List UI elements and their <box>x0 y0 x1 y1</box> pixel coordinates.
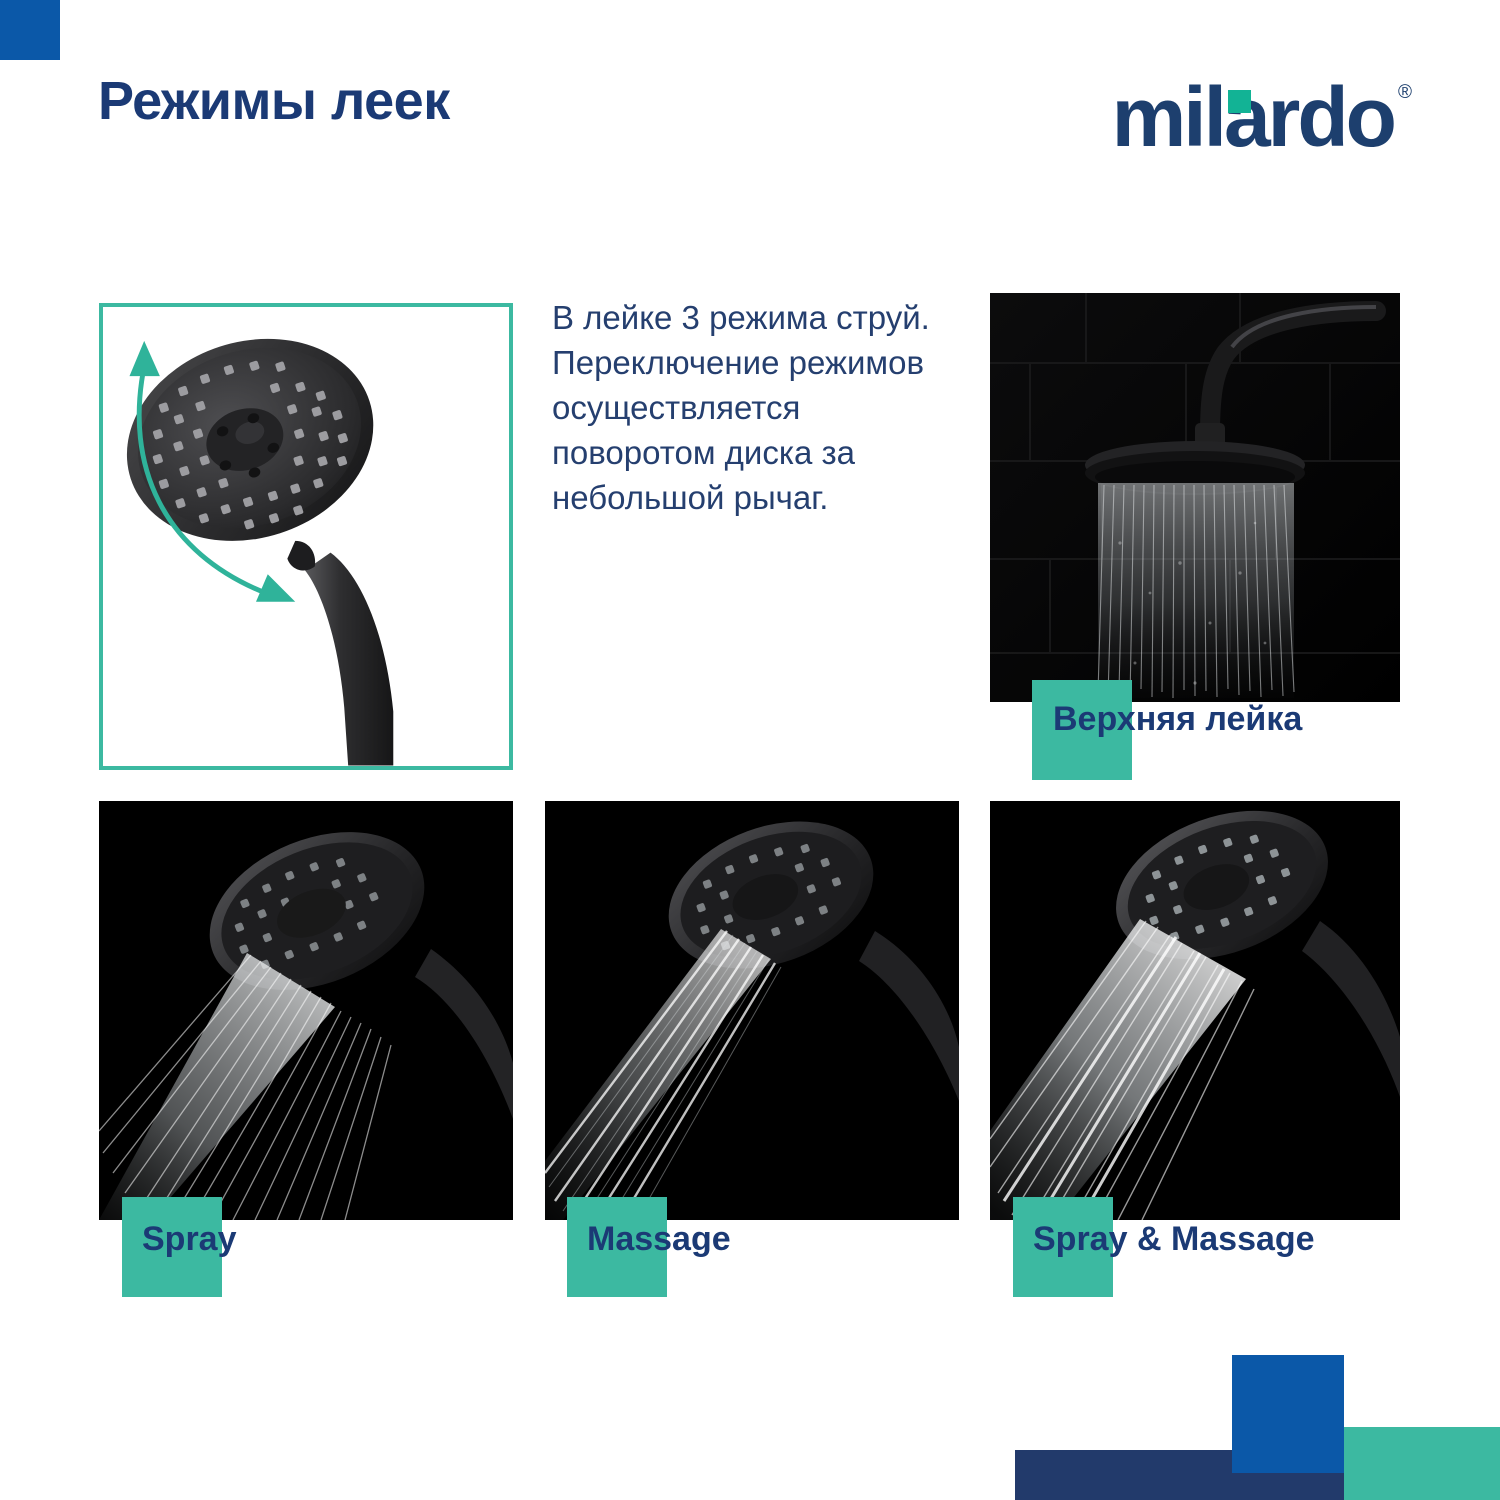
photo-spray-mode <box>99 801 513 1220</box>
corner-accent-teal-square <box>1344 1427 1500 1500</box>
label-spray-mode: Spray <box>142 1220 237 1259</box>
rotation-arrow-head-up <box>129 341 159 376</box>
photo-massage-mode <box>545 801 959 1220</box>
brand-logo: milardo ® <box>1112 78 1412 158</box>
corner-accent-top-left <box>0 0 60 60</box>
label-massage-mode: Massage <box>587 1220 731 1259</box>
brand-logo-i-dot <box>1228 90 1251 113</box>
water-stream-group <box>1098 483 1294 699</box>
corner-accent-blue-square <box>1232 1355 1344 1473</box>
page-title: Режимы леек <box>98 70 450 132</box>
rotation-arrow-head-down <box>256 574 295 601</box>
infographic-canvas: Режимы леек milardo ® <box>0 0 1500 1500</box>
spray-massage-mode-illustration <box>990 801 1400 1220</box>
label-spray-massage-mode: Spray & Massage <box>1033 1220 1315 1259</box>
photo-spray-massage-mode <box>990 801 1400 1220</box>
spray-mode-illustration <box>99 801 513 1220</box>
shower-handle <box>305 553 393 766</box>
mode-lever-nub <box>287 541 315 571</box>
brand-logo-wordmark: milardo <box>1112 78 1394 158</box>
rotation-diagram-box <box>99 303 513 770</box>
label-overhead-shower: Верхняя лейка <box>1053 700 1302 739</box>
massage-mode-illustration <box>545 801 959 1220</box>
rotation-diagram-illustration <box>103 307 509 766</box>
photo-overhead-shower <box>990 293 1400 702</box>
overhead-shower-illustration <box>990 293 1400 702</box>
registered-trademark-icon: ® <box>1398 82 1412 104</box>
intro-paragraph: В лейке 3 режима струй. Переключение реж… <box>552 296 972 520</box>
